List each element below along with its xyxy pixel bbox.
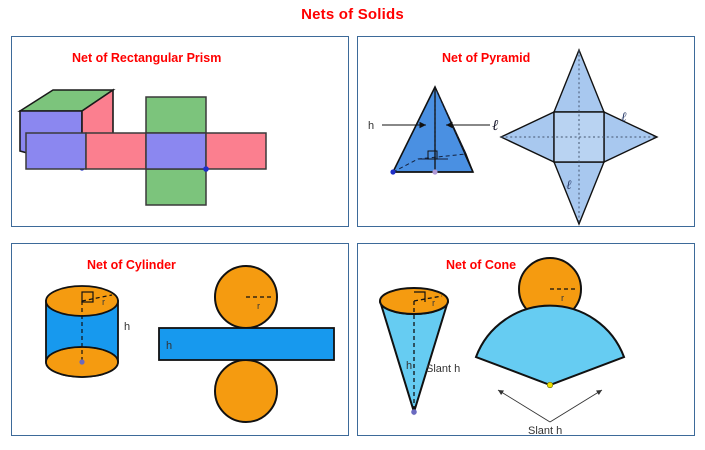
cylinder-radius-label: r	[102, 297, 105, 308]
apex-marker	[547, 382, 553, 388]
vertex-marker	[432, 169, 437, 174]
cylinder-height-label: h	[124, 321, 130, 333]
rectangular-prism-figure	[12, 37, 350, 228]
pyramid-height-label: h	[368, 120, 374, 132]
vertex-marker	[203, 166, 209, 172]
cone-net	[476, 258, 624, 422]
cone-radius-label: r	[432, 298, 435, 309]
pyramid-slant-label: ℓ	[492, 118, 498, 134]
cylinder-solid	[46, 286, 118, 377]
pyramid-figure: h ℓ ℓ ℓ	[358, 37, 696, 228]
cylinder-net-radius-label: r	[257, 301, 260, 312]
cylinder-net	[159, 266, 334, 422]
cone-slant-label: Slant h	[426, 363, 460, 375]
panel-cylinder: Net of Cylinder r h r h	[11, 243, 349, 436]
vertex-marker	[390, 169, 395, 174]
center-marker	[79, 359, 84, 364]
cylinder-net-height-label: h	[166, 340, 172, 352]
panel-cone: Net of Cone r h Slant h r S	[357, 243, 695, 436]
apex-marker	[411, 409, 417, 415]
page-title: Nets of Solids	[0, 6, 705, 23]
panel-rectangular-prism: Net of Rectangular Prism	[11, 36, 349, 227]
cone-net-radius-label: r	[561, 293, 564, 304]
cone-figure: r h Slant h r Slant h	[358, 244, 696, 437]
cylinder-figure: r h r h	[12, 244, 350, 437]
pyramid-net-slant-label-bottom: ℓ	[566, 177, 572, 192]
panel-pyramid: Net of Pyramid	[357, 36, 695, 227]
cylinder-net-rectangle	[159, 328, 334, 360]
cylinder-net-bottom-circle	[215, 360, 277, 422]
pyramid-net-slant-label-right: ℓ	[621, 109, 627, 124]
square-pyramid-net	[501, 50, 657, 224]
square-pyramid-solid	[390, 87, 473, 175]
cone-net-slant-label: Slant h	[528, 425, 562, 437]
cone-solid	[380, 288, 448, 415]
cone-height-label: h	[406, 360, 412, 372]
cone-net-sector	[476, 306, 624, 385]
